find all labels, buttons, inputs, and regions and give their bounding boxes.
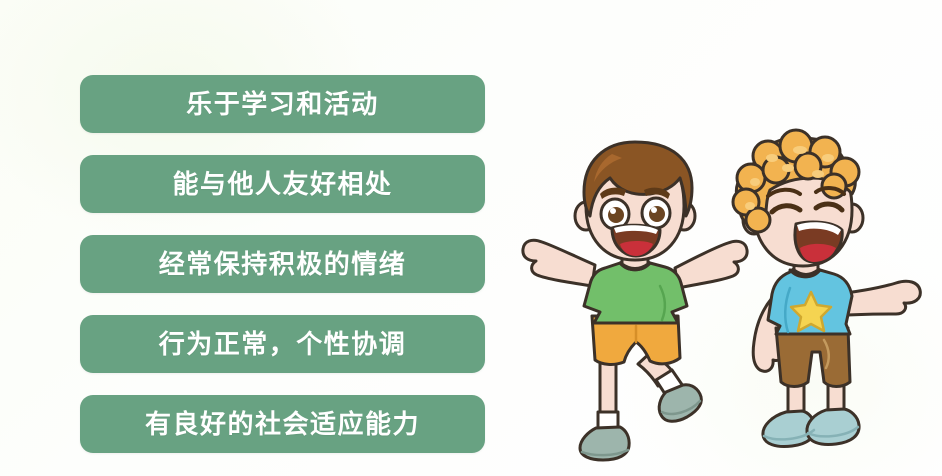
statement-bar[interactable]: 行为正常，个性协调 (80, 315, 485, 373)
boy1-left-eye-glint (610, 208, 616, 214)
statement-bar-label: 行为正常，个性协调 (159, 331, 407, 357)
statement-bar-label: 乐于学习和活动 (186, 91, 379, 117)
children-illustration (500, 120, 942, 476)
statement-bar-list: 乐于学习和活动 能与他人友好相处 经常保持积极的情绪 行为正常，个性协调 有良好… (80, 75, 485, 453)
statement-bar-label: 经常保持积极的情绪 (159, 251, 407, 277)
statement-bar[interactable]: 能与他人友好相处 (80, 155, 485, 213)
boy2-shorts (776, 328, 850, 387)
boy1-left-leg (600, 358, 616, 418)
statement-bar-label: 能与他人友好相处 (172, 171, 392, 197)
boy-brown-hair-figure (523, 142, 747, 460)
boy-curly-blond-hair-figure (733, 130, 920, 447)
boy2-right-shoe (807, 409, 859, 445)
slide-canvas: 乐于学习和活动 能与他人友好相处 经常保持积极的情绪 行为正常，个性协调 有良好… (0, 0, 942, 476)
statement-bar[interactable]: 有良好的社会适应能力 (80, 395, 485, 453)
boy1-shirt (584, 263, 687, 323)
boy1-left-arm (523, 240, 595, 286)
statement-bar[interactable]: 经常保持积极的情绪 (80, 235, 485, 293)
boy1-right-eye-glint (651, 207, 657, 213)
boy1-right-arm (675, 241, 747, 288)
boy1-right-pupil (649, 206, 665, 222)
statement-bar-label: 有良好的社会适应能力 (145, 411, 420, 437)
boy1-left-pupil (608, 207, 624, 223)
statement-bar[interactable]: 乐于学习和活动 (80, 75, 485, 133)
